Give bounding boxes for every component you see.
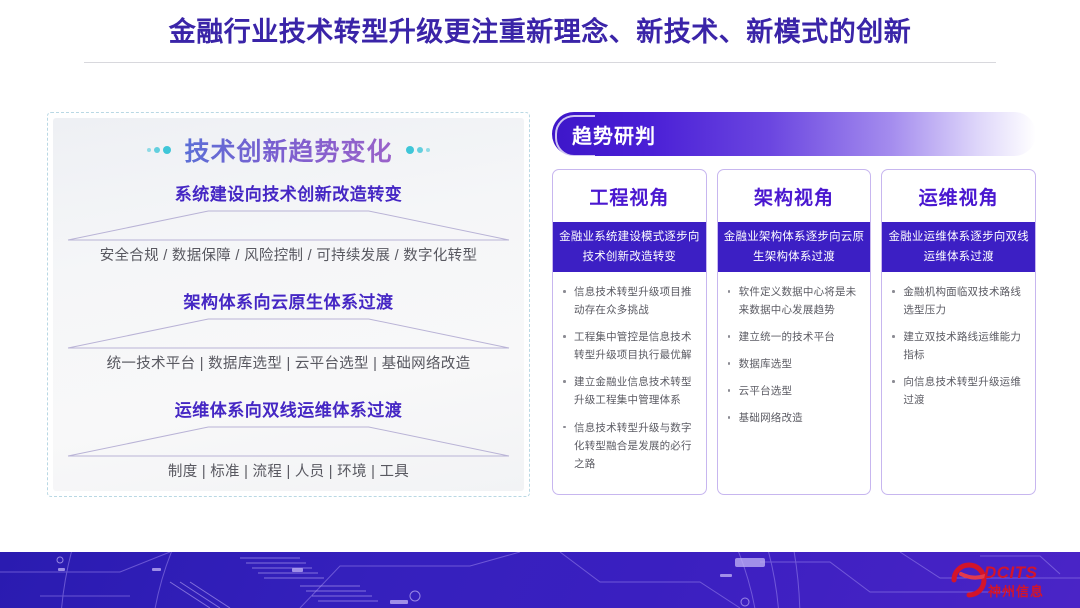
perspective-card-engineering-body: 信息技术转型升级项目推动存在众多挑战 工程集中管控是信息技术转型升级项目执行最优…	[553, 272, 706, 494]
list-item: 基础网络改造	[724, 409, 862, 427]
logo-swirl-icon	[954, 565, 985, 595]
circuit-pattern-icon	[0, 552, 1080, 608]
trend-change-panel: 技术创新趋势变化 系统建设向技术创新改造转变 安全合规 / 数据保障 / 风险控…	[47, 112, 530, 497]
list-item: 云平台选型	[724, 382, 862, 400]
trend-change-heading-row: 技术创新趋势变化	[53, 132, 524, 168]
svg-text:神州信息: 神州信息	[988, 584, 1044, 599]
trend-group-0: 系统建设向技术创新改造转变 安全合规 / 数据保障 / 风险控制 / 可持续发展…	[53, 180, 524, 265]
list-item: 建立统一的技术平台	[724, 328, 862, 346]
bullet-list: 金融机构面临双技术路线选型压力 建立双技术路线运维能力指标 向信息技术转型升级运…	[888, 283, 1026, 409]
perspective-card-engineering[interactable]: 工程视角 金融业系统建设模式逐步向技术创新改造转变 信息技术转型升级项目推动存在…	[552, 169, 707, 495]
slide-root: 金融行业技术转型升级更注重新理念、新技术、新模式的创新 技术创新趋势变化 系统建…	[0, 0, 1080, 608]
funnel-shape-1	[53, 317, 524, 350]
trend-assessment-header: 趋势研判	[552, 112, 1036, 156]
list-item: 数据库选型	[724, 355, 862, 373]
list-item: 建立双技术路线运维能力指标	[888, 328, 1026, 364]
trend-group-2-title: 运维体系向双线运维体系过渡	[53, 396, 524, 421]
trend-change-heading: 技术创新趋势变化	[184, 132, 392, 168]
dots-left-icon	[147, 146, 171, 154]
bullet-list: 信息技术转型升级项目推动存在众多挑战 工程集中管控是信息技术转型升级项目执行最优…	[559, 283, 697, 472]
footer-banner: DCITS 神州信息	[0, 552, 1080, 608]
page-title-wrapper: 金融行业技术转型升级更注重新理念、新技术、新模式的创新	[0, 16, 1080, 50]
bullet-list: 软件定义数据中心将是未来数据中心发展趋势 建立统一的技术平台 数据库选型 云平台…	[724, 283, 862, 427]
title-divider	[84, 62, 996, 63]
trend-group-0-items: 安全合规 / 数据保障 / 风险控制 / 可持续发展 / 数字化转型	[53, 244, 524, 265]
perspective-card-architecture-title: 架构视角	[718, 170, 871, 222]
page-title: 金融行业技术转型升级更注重新理念、新技术、新模式的创新	[0, 16, 1080, 50]
perspective-card-list: 工程视角 金融业系统建设模式逐步向技术创新改造转变 信息技术转型升级项目推动存在…	[552, 169, 1036, 495]
list-item: 金融机构面临双技术路线选型压力	[888, 283, 1026, 319]
perspective-card-operations-body: 金融机构面临双技术路线选型压力 建立双技术路线运维能力指标 向信息技术转型升级运…	[882, 272, 1035, 494]
svg-text:DCITS: DCITS	[984, 563, 1038, 582]
trend-group-1: 架构体系向云原生体系过渡 统一技术平台 | 数据库选型 | 云平台选型 | 基础…	[53, 288, 524, 373]
list-item: 信息技术转型升级与数字化转型融合是发展的必行之路	[559, 419, 697, 473]
perspective-card-architecture[interactable]: 架构视角 金融业架构体系逐步向云原生架构体系过渡 软件定义数据中心将是未来数据中…	[717, 169, 872, 495]
dots-right-icon	[406, 146, 430, 154]
trend-assessment-header-label: 趋势研判	[572, 120, 656, 149]
list-item: 软件定义数据中心将是未来数据中心发展趋势	[724, 283, 862, 319]
perspective-card-operations-title: 运维视角	[882, 170, 1035, 222]
funnel-shape-2	[53, 425, 524, 458]
trend-group-1-items: 统一技术平台 | 数据库选型 | 云平台选型 | 基础网络改造	[53, 352, 524, 373]
trend-change-panel-inner: 技术创新趋势变化 系统建设向技术创新改造转变 安全合规 / 数据保障 / 风险控…	[53, 118, 524, 491]
perspective-card-engineering-title: 工程视角	[553, 170, 706, 222]
dcits-logo: DCITS 神州信息	[948, 558, 1068, 602]
list-item: 建立金融业信息技术转型升级工程集中管理体系	[559, 373, 697, 409]
list-item: 信息技术转型升级项目推动存在众多挑战	[559, 283, 697, 319]
trend-group-2-items: 制度 | 标准 | 流程 | 人员 | 环境 | 工具	[53, 460, 524, 481]
trend-group-0-title: 系统建设向技术创新改造转变	[53, 180, 524, 205]
perspective-card-operations[interactable]: 运维视角 金融业运维体系逐步向双线运维体系过渡 金融机构面临双技术路线选型压力 …	[881, 169, 1036, 495]
list-item: 工程集中管控是信息技术转型升级项目执行最优解	[559, 328, 697, 364]
perspective-card-engineering-subtitle: 金融业系统建设模式逐步向技术创新改造转变	[553, 222, 706, 272]
perspective-card-operations-subtitle: 金融业运维体系逐步向双线运维体系过渡	[882, 222, 1035, 272]
perspective-card-architecture-body: 软件定义数据中心将是未来数据中心发展趋势 建立统一的技术平台 数据库选型 云平台…	[718, 272, 871, 494]
trend-group-1-title: 架构体系向云原生体系过渡	[53, 288, 524, 313]
list-item: 向信息技术转型升级运维过渡	[888, 373, 1026, 409]
perspective-card-architecture-subtitle: 金融业架构体系逐步向云原生架构体系过渡	[718, 222, 871, 272]
trend-assessment-panel: 趋势研判 工程视角 金融业系统建设模式逐步向技术创新改造转变 信息技术转型升级项…	[552, 112, 1036, 497]
trend-group-2: 运维体系向双线运维体系过渡 制度 | 标准 | 流程 | 人员 | 环境 | 工…	[53, 396, 524, 481]
funnel-shape-0	[53, 209, 524, 242]
